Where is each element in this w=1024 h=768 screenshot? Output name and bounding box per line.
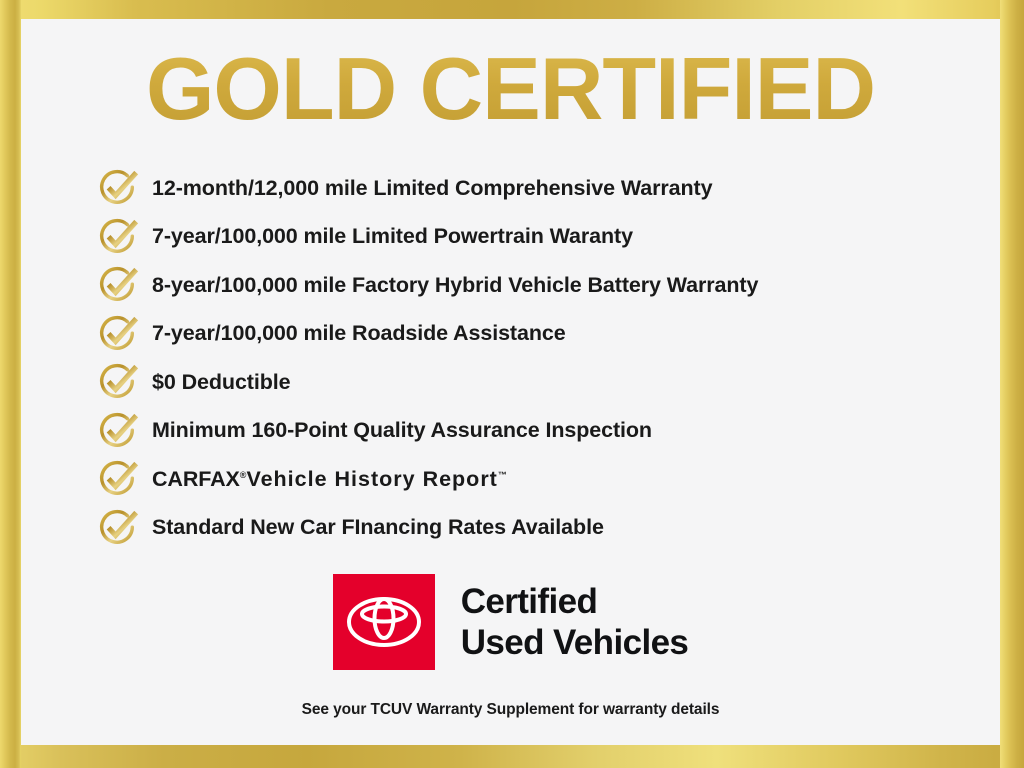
toyota-emblem-icon: [346, 595, 422, 649]
tcuv-wordmark: Certified Used Vehicles: [461, 581, 689, 663]
list-item-label: Minimum 160-Point Quality Assurance Insp…: [152, 420, 652, 442]
list-item: CARFAX®Vehicle History Report™: [96, 455, 986, 504]
carfax-wordmark: CARFAX: [152, 467, 240, 491]
poster-card: GOLD CERTIFIED 12-mont: [21, 19, 1000, 745]
list-item: 12-month/12,000 mile Limited Comprehensi…: [96, 164, 986, 213]
list-item: $0 Deductible: [96, 358, 986, 407]
list-item: Standard New Car FInancing Rates Availab…: [96, 504, 986, 553]
list-item-label: 12-month/12,000 mile Limited Comprehensi…: [152, 178, 712, 200]
gold-check-icon: [96, 457, 142, 501]
list-item-label: $0 Deductible: [152, 372, 291, 394]
gold-border-bottom: [0, 745, 1024, 768]
gold-border-top: [0, 0, 1024, 19]
list-item-label: 7-year/100,000 mile Limited Powertrain W…: [152, 226, 633, 248]
gold-check-icon: [96, 409, 142, 453]
list-item-label: 8-year/100,000 mile Factory Hybrid Vehic…: [152, 275, 758, 297]
list-item: 7-year/100,000 mile Limited Powertrain W…: [96, 213, 986, 262]
toyota-certified-lockup: Certified Used Vehicles: [21, 574, 1000, 670]
tcuv-line-2: Used Vehicles: [461, 622, 689, 663]
tcuv-line-1: Certified: [461, 581, 689, 622]
gold-check-icon: [96, 506, 142, 550]
list-item: Minimum 160-Point Quality Assurance Insp…: [96, 407, 986, 456]
list-item: 7-year/100,000 mile Roadside Assistance: [96, 310, 986, 359]
gold-check-icon: [96, 215, 142, 259]
toyota-logo-tile: [333, 574, 435, 670]
page-title: GOLD CERTIFIED: [21, 41, 1000, 137]
list-item-label: CARFAX®Vehicle History Report™: [152, 469, 507, 491]
benefits-list: 12-month/12,000 mile Limited Comprehensi…: [96, 164, 986, 552]
gold-certified-poster: GOLD CERTIFIED 12-mont: [0, 0, 1024, 768]
gold-check-icon: [96, 360, 142, 404]
trademark-mark: ™: [498, 469, 507, 479]
list-item-label: 7-year/100,000 mile Roadside Assistance: [152, 323, 566, 345]
gold-check-icon: [96, 312, 142, 356]
gold-check-icon: [96, 263, 142, 307]
list-item-label: Standard New Car FInancing Rates Availab…: [152, 517, 604, 539]
carfax-report-label: Vehicle History Report: [246, 467, 497, 491]
list-item: 8-year/100,000 mile Factory Hybrid Vehic…: [96, 261, 986, 310]
gold-border-left: [0, 0, 21, 768]
gold-border-right: [1000, 0, 1024, 768]
warranty-footnote: See your TCUV Warranty Supplement for wa…: [21, 701, 1000, 719]
gold-check-icon: [96, 166, 142, 210]
